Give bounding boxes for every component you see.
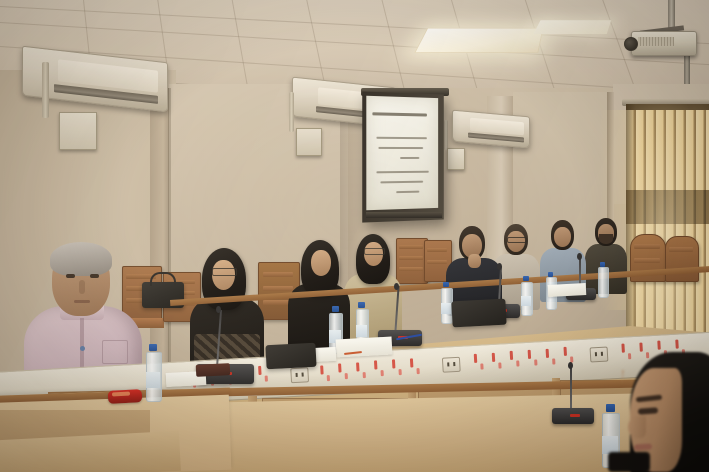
foreground-dark-object (608, 452, 650, 472)
eyeglasses-icon (364, 248, 385, 255)
wooden-chair-6 (630, 234, 664, 300)
water-bottle-7[interactable] (598, 262, 607, 296)
bag-handle (150, 272, 176, 286)
ac-pipe-center (289, 92, 294, 132)
ceiling-light-panel-1 (414, 28, 543, 53)
ceiling-light-panel-2 (533, 20, 611, 34)
projection-screen-surface (366, 96, 438, 210)
water-bottle-1[interactable] (146, 344, 160, 400)
eye-left (66, 274, 75, 278)
beard (599, 234, 613, 244)
laptop-bag-2[interactable] (451, 299, 506, 328)
eye-right (90, 274, 99, 278)
mouth (74, 300, 90, 303)
ac-controller-box-left (59, 112, 97, 150)
water-bottle-4[interactable] (441, 282, 451, 322)
projector-lens (624, 37, 638, 51)
notebook[interactable] (196, 363, 231, 377)
eyeglasses-icon (212, 268, 237, 276)
gooseneck-microphone-5[interactable] (552, 366, 594, 424)
laptop-bag-1[interactable] (265, 343, 316, 370)
power-socket-1 (290, 367, 309, 383)
shirt-pocket (102, 340, 128, 364)
window-sunlight-glow (626, 104, 709, 360)
ac-controller-box-center (296, 128, 322, 156)
split-ac-unit-right (452, 113, 530, 151)
eyeglasses-icon (507, 237, 527, 243)
ac-pipe-left (42, 62, 49, 118)
ac-controller-box-right (447, 148, 465, 170)
power-socket-2 (442, 357, 461, 373)
blind-edge-shadow (626, 104, 636, 360)
water-bottle-5[interactable] (521, 276, 531, 314)
shirt-button (80, 346, 85, 351)
hand-on-chin (468, 254, 481, 268)
conference-room-photo (0, 0, 709, 472)
projection-screen-bottom-bar (366, 212, 442, 218)
document-paper-4[interactable] (548, 283, 587, 297)
hair (50, 242, 112, 276)
power-socket-3 (590, 346, 609, 362)
nose (79, 280, 85, 294)
ac-pipe-right (444, 120, 448, 150)
ceiling-projector (631, 31, 697, 56)
projector-vent (638, 37, 674, 46)
